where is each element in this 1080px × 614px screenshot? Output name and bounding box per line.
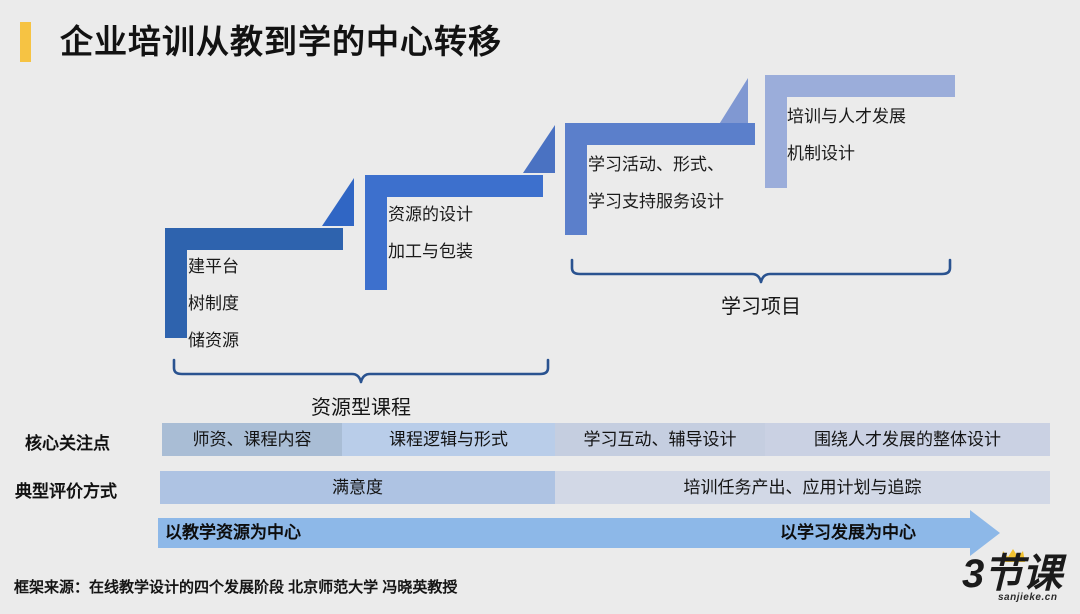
cell-core-focus-1: 师资、课程内容 xyxy=(162,423,342,456)
shift-arrow-right-label: 以学习发展为中心 xyxy=(780,518,916,548)
stage-2-riser-triangle xyxy=(322,178,354,226)
stage-4-top-bar xyxy=(765,75,955,97)
cell-core-focus-4: 围绕人才发展的整体设计 xyxy=(765,423,1050,456)
stage-1-left-bar xyxy=(165,228,187,338)
stage-4-label: 培训与人才发展 机制设计 xyxy=(787,98,906,172)
cell-evaluation-2: 培训任务产出、应用计划与追踪 xyxy=(555,471,1050,504)
stage-1-line-1: 建平台 xyxy=(188,248,239,285)
brace-learning-project xyxy=(568,258,954,284)
title-accent-bar xyxy=(20,22,31,62)
stage-1-line-2: 树制度 xyxy=(188,285,239,322)
page-title: 企业培训从教到学的中心转移 xyxy=(60,20,502,64)
stage-1-top-bar xyxy=(165,228,343,250)
row-label-typical-evaluation: 典型评价方式 xyxy=(15,477,117,502)
slide-canvas: 企业培训从教到学的中心转移 培训与人才发展 机制设计 学习活动、形式、 学习支持… xyxy=(0,0,1080,614)
brand-logo: 3节课 sanjieke.cn xyxy=(962,548,1074,610)
stage-3-top-bar xyxy=(565,123,755,145)
row-label-core-focus: 核心关注点 xyxy=(25,429,110,454)
stage-1-line-3: 储资源 xyxy=(188,322,239,359)
logo-url: sanjieke.cn xyxy=(998,592,1057,603)
stage-3-label: 学习活动、形式、 学习支持服务设计 xyxy=(588,146,724,220)
stage-2-top-bar xyxy=(365,175,543,197)
stage-3-riser-triangle xyxy=(523,125,555,173)
stage-3-left-bar xyxy=(565,123,587,235)
brace-learning-project-icon xyxy=(568,258,954,284)
stage-3-line-2: 学习支持服务设计 xyxy=(588,183,724,220)
stage-2-line-2: 加工与包装 xyxy=(388,233,473,270)
stage-4-line-1: 培训与人才发展 xyxy=(787,98,906,135)
brace-resource-course-icon xyxy=(170,358,552,384)
brace-learning-project-label: 学习项目 xyxy=(568,290,954,319)
stage-2-label: 资源的设计 加工与包装 xyxy=(388,196,473,270)
stage-3-line-1: 学习活动、形式、 xyxy=(588,146,724,183)
stage-2-line-1: 资源的设计 xyxy=(388,196,473,233)
brace-resource-course xyxy=(170,358,552,384)
stage-4-riser-triangle xyxy=(718,78,748,126)
stage-4-line-2: 机制设计 xyxy=(787,135,906,172)
cell-core-focus-2: 课程逻辑与形式 xyxy=(342,423,555,456)
logo-wordmark: 3节课 xyxy=(962,554,1061,594)
stage-2-left-bar xyxy=(365,175,387,290)
brace-resource-course-label: 资源型课程 xyxy=(170,391,552,420)
source-note: 框架来源：在线教学设计的四个发展阶段 北京师范大学 冯晓英教授 xyxy=(14,576,457,597)
cell-evaluation-1: 满意度 xyxy=(160,471,555,504)
stage-4-left-bar xyxy=(765,75,787,188)
shift-arrow-left-label: 以教学资源为中心 xyxy=(165,518,301,548)
cell-core-focus-3: 学习互动、辅导设计 xyxy=(555,423,765,456)
stage-1-label: 建平台 树制度 储资源 xyxy=(188,248,239,359)
